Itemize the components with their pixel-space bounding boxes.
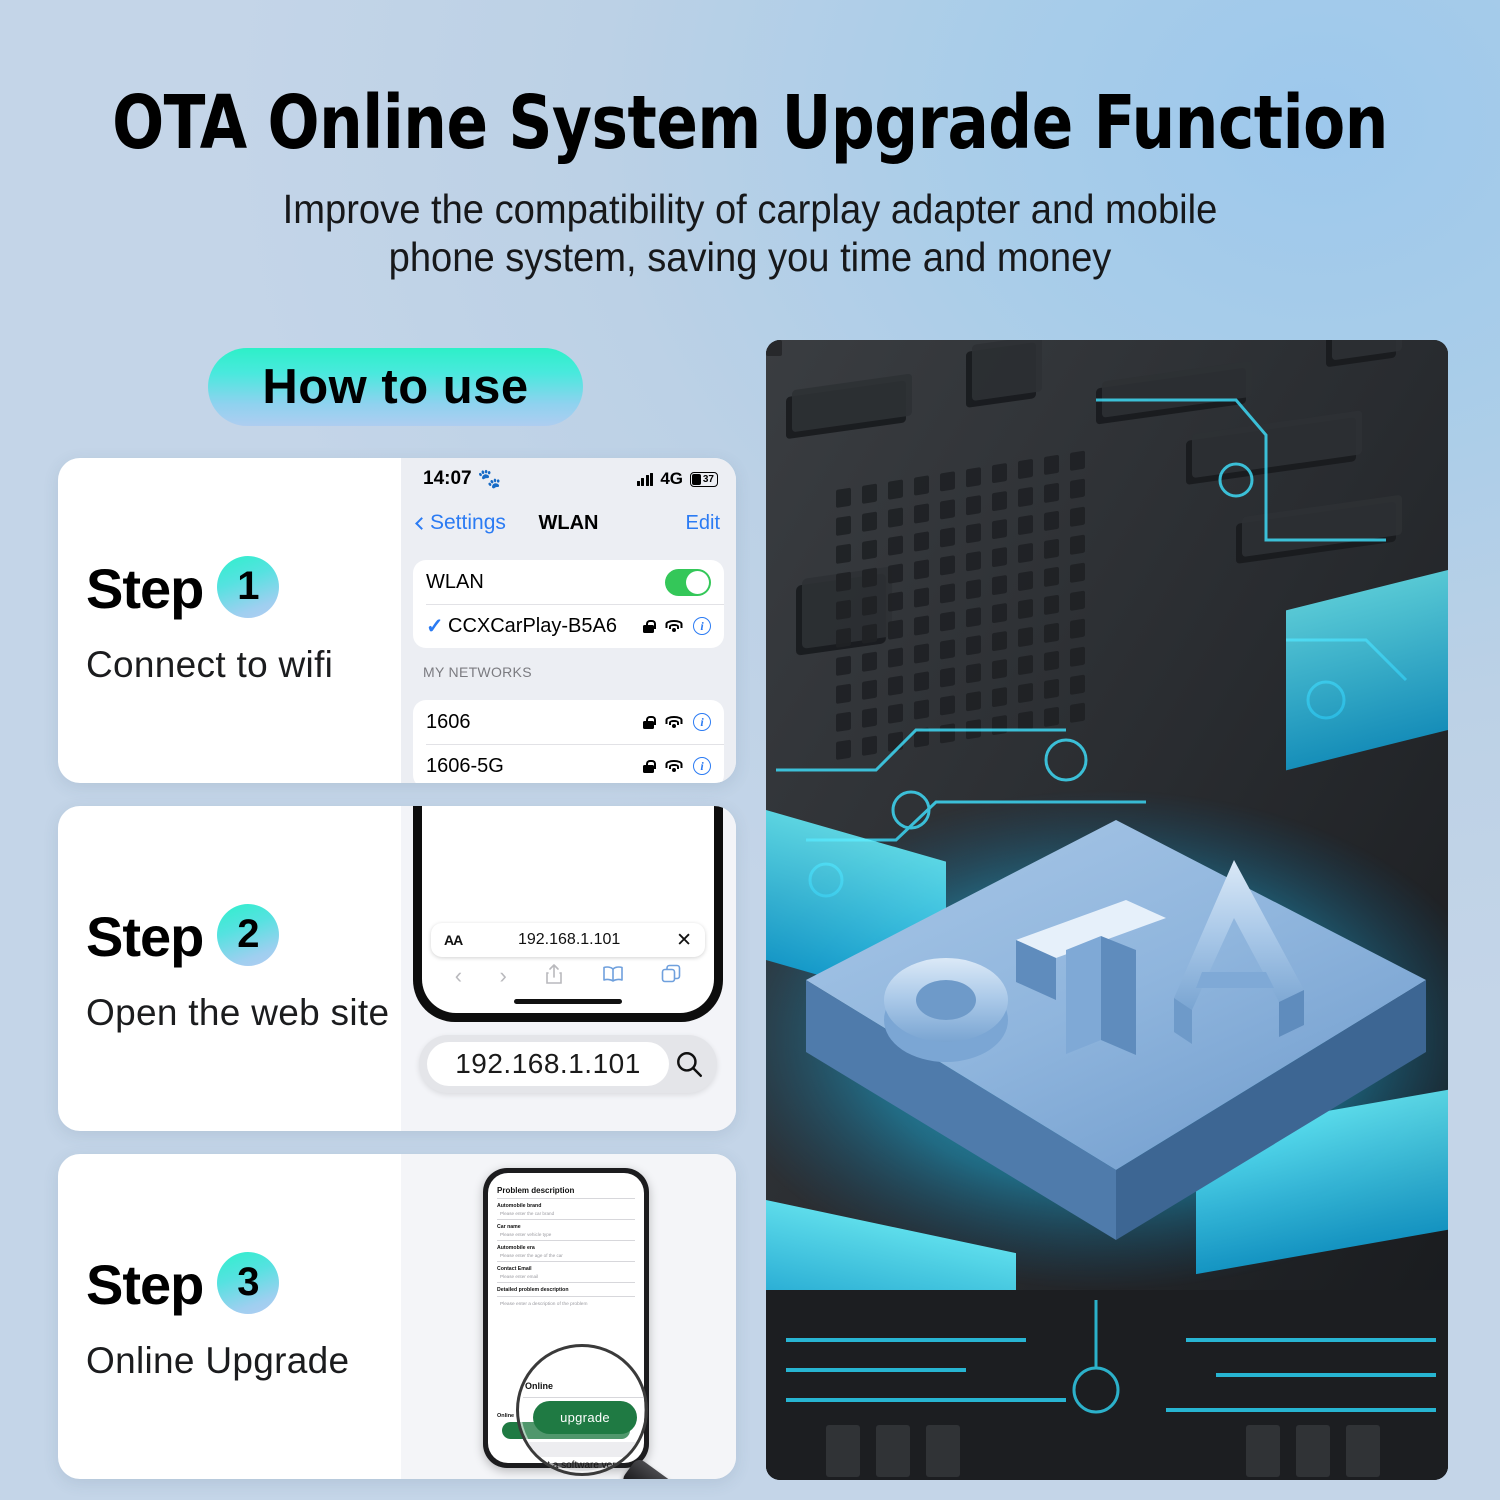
online-label: Online bbox=[497, 1413, 514, 1419]
divider bbox=[523, 1397, 647, 1398]
divider bbox=[497, 1219, 635, 1220]
share-icon[interactable] bbox=[544, 963, 564, 989]
lock-icon bbox=[643, 620, 654, 633]
tabs-icon[interactable] bbox=[661, 964, 681, 988]
connected-ssid: CCXCarPlay-B5A6 bbox=[448, 615, 643, 638]
text-size-aa-icon[interactable]: AA bbox=[444, 932, 462, 948]
divider bbox=[497, 1198, 635, 1199]
bookmarks-icon[interactable] bbox=[602, 965, 624, 987]
phone-frame: AA 192.168.1.101 ✕ ‹ › bbox=[413, 806, 723, 1022]
how-to-use-label: How to use bbox=[262, 359, 528, 415]
wlan-group: WLAN ✓ CCXCarPlay-B5A6 i bbox=[413, 560, 724, 648]
phone-screen: AA 192.168.1.101 ✕ ‹ › bbox=[422, 806, 714, 1013]
checkmark-icon: ✓ bbox=[426, 614, 446, 639]
signal-icon bbox=[637, 473, 654, 486]
safari-address-bar[interactable]: AA 192.168.1.101 ✕ bbox=[431, 923, 705, 957]
search-icon[interactable] bbox=[669, 1049, 709, 1079]
field-input-car-name[interactable]: Please enter vehicle type bbox=[500, 1232, 635, 1237]
status-right: 4G 37 bbox=[637, 469, 718, 489]
info-icon[interactable]: i bbox=[693, 617, 711, 635]
back-icon[interactable]: ‹ bbox=[455, 965, 462, 987]
magnified-upgrade-button[interactable]: upgrade bbox=[533, 1401, 637, 1434]
step-1-screenshot: 14:07 🐾 4G 37 Settings WLAN bbox=[401, 458, 736, 783]
step-1-word: Step bbox=[86, 556, 203, 621]
info-icon[interactable]: i bbox=[693, 713, 711, 731]
magnified-content: Online upgrade t a software versi bbox=[519, 1347, 648, 1476]
step-3-screenshot: Problem description Automobile brand Ple… bbox=[401, 1154, 736, 1479]
info-icon[interactable]: i bbox=[693, 757, 711, 775]
field-input-detailed-description[interactable]: Please enter a description of the proble… bbox=[500, 1302, 635, 1307]
field-input-automobile-brand[interactable]: Please enter the car brand bbox=[500, 1211, 635, 1216]
step-3-number-badge: 3 bbox=[217, 1252, 279, 1314]
step-3-heading: Step 3 bbox=[86, 1252, 416, 1318]
divider bbox=[497, 1282, 635, 1283]
magnified-spacer bbox=[519, 1442, 648, 1457]
ota-chip-illustration bbox=[766, 340, 1448, 1480]
wlan-toggle[interactable] bbox=[665, 569, 711, 596]
wifi-icon bbox=[665, 620, 682, 633]
divider bbox=[497, 1296, 635, 1297]
network-type-label: 4G bbox=[660, 469, 683, 489]
magnifier-lens: Online upgrade t a software versi bbox=[516, 1344, 648, 1476]
step-2-text: Step 2 Open the web site bbox=[86, 806, 416, 1131]
network-ssid: 1606 bbox=[426, 711, 643, 734]
network-row[interactable]: 1606-5G i bbox=[413, 744, 724, 783]
network-ssid: 1606-5G bbox=[426, 755, 643, 778]
safari-toolbar: ‹ › bbox=[422, 961, 714, 991]
step-1-caption: Connect to wifi bbox=[86, 644, 416, 686]
field-input-contact-email[interactable]: Please enter email bbox=[500, 1274, 635, 1279]
divider bbox=[497, 1240, 635, 1241]
field-input-automobile-era[interactable]: Please enter the age of the car bbox=[500, 1253, 635, 1258]
forward-icon[interactable]: › bbox=[500, 965, 507, 987]
step-2-word: Step bbox=[86, 904, 203, 969]
subtitle-line-1: Improve the compatibility of carplay ada… bbox=[53, 186, 1448, 234]
step-card-2: Step 2 Open the web site AA 192.168.1.10… bbox=[58, 806, 736, 1131]
settings-nav-bar: Settings WLAN Edit bbox=[401, 500, 736, 546]
status-time: 14:07 bbox=[423, 468, 472, 490]
step-2-screenshot: AA 192.168.1.101 ✕ ‹ › bbox=[401, 806, 736, 1131]
field-label-contact-email: Contact Email bbox=[497, 1266, 635, 1272]
field-label-automobile-era: Automobile era bbox=[497, 1245, 635, 1251]
page-root: OTA Online System Upgrade Function Impro… bbox=[0, 0, 1500, 1500]
step-1-heading: Step 1 bbox=[86, 556, 416, 622]
battery-icon: 37 bbox=[690, 472, 718, 487]
field-label-detailed-description: Detailed problem description bbox=[497, 1287, 635, 1293]
network-row-icons: i bbox=[643, 757, 711, 775]
page-title: OTA Online System Upgrade Function bbox=[60, 86, 1440, 160]
step-card-3: Step 3 Online Upgrade Problem descriptio… bbox=[58, 1154, 736, 1479]
form-title: Problem description bbox=[497, 1186, 635, 1195]
my-networks-header: MY NETWORKS bbox=[401, 648, 736, 686]
step-1-number-badge: 1 bbox=[217, 556, 279, 618]
subtitle-line-2: phone system, saving you time and money bbox=[53, 234, 1448, 282]
how-to-use-badge: How to use bbox=[208, 348, 583, 426]
field-label-automobile-brand: Automobile brand bbox=[497, 1203, 635, 1209]
ota-chip-image bbox=[766, 340, 1448, 1480]
step-2-caption: Open the web site bbox=[86, 992, 416, 1034]
step-2-number-badge: 2 bbox=[217, 904, 279, 966]
paw-icon: 🐾 bbox=[478, 467, 502, 491]
address-bar-url: 192.168.1.101 bbox=[462, 931, 676, 949]
wlan-toggle-row[interactable]: WLAN bbox=[413, 560, 724, 604]
wlan-label: WLAN bbox=[426, 571, 665, 594]
step-1-text: Step 1 Connect to wifi bbox=[86, 458, 416, 783]
lock-icon bbox=[643, 760, 654, 773]
connected-network-row[interactable]: ✓ CCXCarPlay-B5A6 i bbox=[413, 604, 724, 648]
my-networks-group: 1606 i 1606-5G i bbox=[413, 700, 724, 783]
step-3-text: Step 3 Online Upgrade bbox=[86, 1154, 416, 1479]
page-subtitle: Improve the compatibility of carplay ada… bbox=[53, 186, 1448, 281]
step-3-caption: Online Upgrade bbox=[86, 1340, 416, 1382]
divider bbox=[497, 1261, 635, 1262]
status-left: 14:07 🐾 bbox=[423, 467, 501, 491]
step-card-1: Step 1 Connect to wifi 14:07 🐾 4G 37 bbox=[58, 458, 736, 783]
lock-icon bbox=[643, 716, 654, 729]
magnified-online-label: Online bbox=[525, 1381, 553, 1391]
header: OTA Online System Upgrade Function Impro… bbox=[0, 86, 1500, 281]
search-input[interactable]: 192.168.1.101 bbox=[427, 1042, 669, 1086]
wifi-icon bbox=[665, 760, 682, 773]
battery-level: 37 bbox=[703, 474, 717, 485]
connected-row-icons: i bbox=[643, 617, 711, 635]
network-row-icons: i bbox=[643, 713, 711, 731]
step-2-heading: Step 2 bbox=[86, 904, 416, 970]
close-icon[interactable]: ✕ bbox=[676, 931, 692, 950]
magnified-search-pill[interactable]: 192.168.1.101 bbox=[419, 1035, 717, 1093]
nav-title: WLAN bbox=[401, 512, 736, 535]
home-indicator bbox=[514, 999, 622, 1004]
ios-status-bar: 14:07 🐾 4G 37 bbox=[401, 458, 736, 500]
field-label-car-name: Car name bbox=[497, 1224, 635, 1230]
wifi-icon bbox=[665, 716, 682, 729]
network-row[interactable]: 1606 i bbox=[413, 700, 724, 744]
step-3-word: Step bbox=[86, 1252, 203, 1317]
